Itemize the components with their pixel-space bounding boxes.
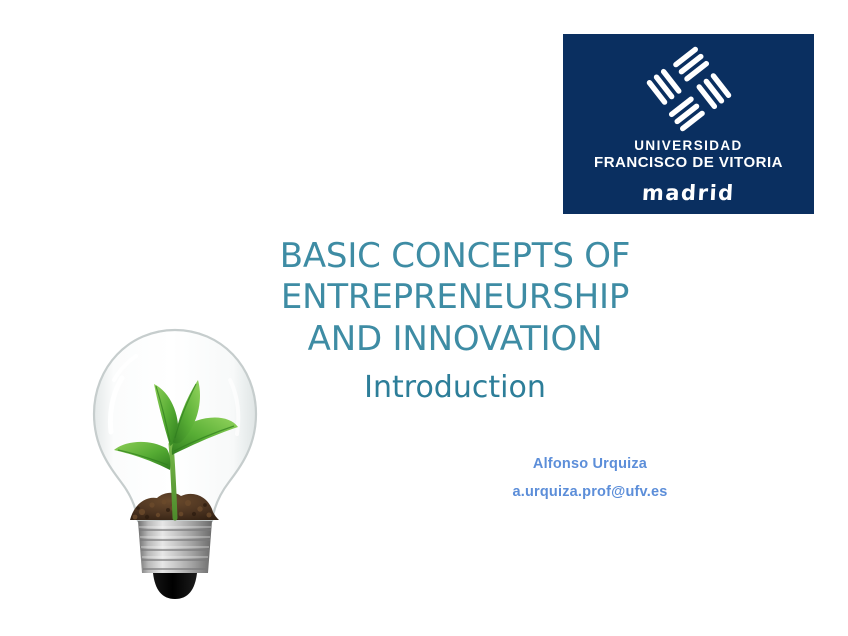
author-name: Alfonso Urquiza [400, 456, 780, 473]
slide-canvas: UNIVERSIDAD FRANCISCO DE VITORIA madrid … [0, 0, 848, 636]
lightbulb-with-seedling-icon [78, 322, 273, 632]
woven-diamond-emblem-icon [633, 46, 745, 132]
author-block: Alfonso Urquiza a.urquiza.prof@ufv.es [400, 456, 780, 502]
university-wordmark: UNIVERSIDAD FRANCISCO DE VITORIA [594, 138, 783, 172]
university-logo: UNIVERSIDAD FRANCISCO DE VITORIA madrid [563, 34, 814, 214]
author-email[interactable]: a.urquiza.prof@ufv.es [400, 484, 780, 501]
logo-city-label: madrid [642, 181, 736, 205]
wordmark-line-2: FRANCISCO DE VITORIA [594, 154, 783, 172]
wordmark-line-1: UNIVERSIDAD [594, 138, 783, 154]
